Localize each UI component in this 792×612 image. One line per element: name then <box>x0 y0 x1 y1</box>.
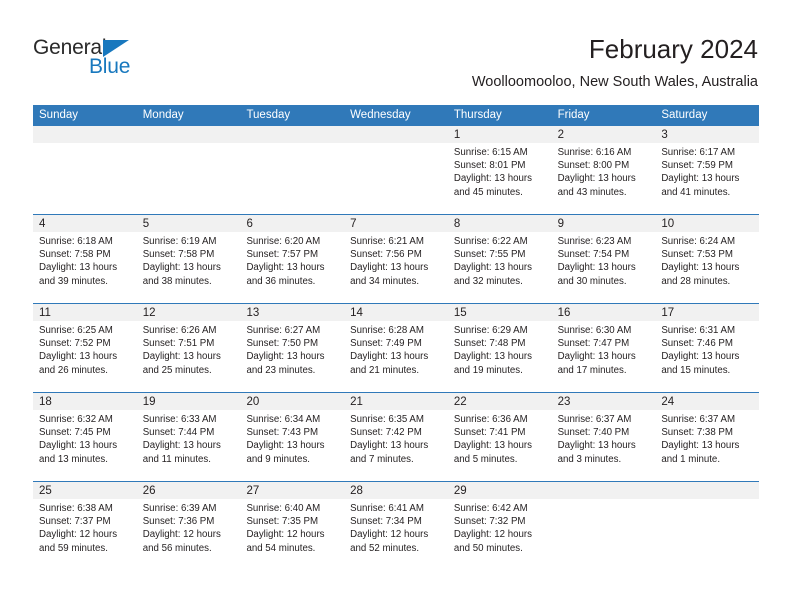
daylight-duration-line2: and 39 minutes. <box>39 275 131 288</box>
day-sun-info: Sunrise: 6:40 AMSunset: 7:35 PMDaylight:… <box>240 499 344 555</box>
daylight-duration-line1: Daylight: 13 hours <box>39 350 131 363</box>
day-sun-info: Sunrise: 6:27 AMSunset: 7:50 PMDaylight:… <box>240 321 344 377</box>
calendar-week-row: 1Sunrise: 6:15 AMSunset: 8:01 PMDaylight… <box>33 126 759 214</box>
day-number: 14 <box>344 304 448 321</box>
sunrise-time: Sunrise: 6:29 AM <box>454 324 546 337</box>
daylight-duration-line1: Daylight: 13 hours <box>350 350 442 363</box>
daylight-duration-line1: Daylight: 13 hours <box>39 261 131 274</box>
calendar-day-cell-empty <box>655 482 759 570</box>
daylight-duration-line2: and 19 minutes. <box>454 364 546 377</box>
daylight-duration-line2: and 1 minute. <box>661 453 753 466</box>
sunrise-time: Sunrise: 6:38 AM <box>39 502 131 515</box>
calendar-day-cell[interactable]: 9Sunrise: 6:23 AMSunset: 7:54 PMDaylight… <box>552 215 656 303</box>
weekday-header-row: Sunday Monday Tuesday Wednesday Thursday… <box>33 105 759 126</box>
daylight-duration-line2: and 30 minutes. <box>558 275 650 288</box>
weekday-header-saturday: Saturday <box>655 105 759 126</box>
calendar-day-cell-empty <box>33 126 137 214</box>
day-number: 27 <box>240 482 344 499</box>
day-sun-info: Sunrise: 6:28 AMSunset: 7:49 PMDaylight:… <box>344 321 448 377</box>
sunset-time: Sunset: 7:52 PM <box>39 337 131 350</box>
daylight-duration-line2: and 17 minutes. <box>558 364 650 377</box>
day-sun-info: Sunrise: 6:24 AMSunset: 7:53 PMDaylight:… <box>655 232 759 288</box>
daylight-duration-line1: Daylight: 12 hours <box>454 528 546 541</box>
daylight-duration-line1: Daylight: 12 hours <box>350 528 442 541</box>
daylight-duration-line2: and 59 minutes. <box>39 542 131 555</box>
day-sun-info: Sunrise: 6:34 AMSunset: 7:43 PMDaylight:… <box>240 410 344 466</box>
sunset-time: Sunset: 7:42 PM <box>350 426 442 439</box>
day-sun-info: Sunrise: 6:31 AMSunset: 7:46 PMDaylight:… <box>655 321 759 377</box>
day-sun-info: Sunrise: 6:20 AMSunset: 7:57 PMDaylight:… <box>240 232 344 288</box>
calendar-day-cell-empty <box>240 126 344 214</box>
daylight-duration-line1: Daylight: 12 hours <box>143 528 235 541</box>
sunrise-time: Sunrise: 6:36 AM <box>454 413 546 426</box>
sunrise-time: Sunrise: 6:15 AM <box>454 146 546 159</box>
sunrise-time: Sunrise: 6:31 AM <box>661 324 753 337</box>
day-sun-info: Sunrise: 6:30 AMSunset: 7:47 PMDaylight:… <box>552 321 656 377</box>
day-sun-info: Sunrise: 6:21 AMSunset: 7:56 PMDaylight:… <box>344 232 448 288</box>
sunrise-time: Sunrise: 6:20 AM <box>246 235 338 248</box>
calendar-day-cell[interactable]: 1Sunrise: 6:15 AMSunset: 8:01 PMDaylight… <box>448 126 552 214</box>
day-number <box>552 482 656 499</box>
sunrise-time: Sunrise: 6:34 AM <box>246 413 338 426</box>
daylight-duration-line2: and 36 minutes. <box>246 275 338 288</box>
daylight-duration-line1: Daylight: 13 hours <box>454 261 546 274</box>
day-sun-info: Sunrise: 6:33 AMSunset: 7:44 PMDaylight:… <box>137 410 241 466</box>
daylight-duration-line1: Daylight: 13 hours <box>558 261 650 274</box>
daylight-duration-line1: Daylight: 13 hours <box>454 350 546 363</box>
sunrise-time: Sunrise: 6:16 AM <box>558 146 650 159</box>
sunset-time: Sunset: 7:35 PM <box>246 515 338 528</box>
sunrise-time: Sunrise: 6:42 AM <box>454 502 546 515</box>
day-sun-info: Sunrise: 6:36 AMSunset: 7:41 PMDaylight:… <box>448 410 552 466</box>
calendar-day-cell[interactable]: 25Sunrise: 6:38 AMSunset: 7:37 PMDayligh… <box>33 482 137 570</box>
day-number: 28 <box>344 482 448 499</box>
day-sun-info: Sunrise: 6:39 AMSunset: 7:36 PMDaylight:… <box>137 499 241 555</box>
day-number <box>33 126 137 143</box>
day-number: 26 <box>137 482 241 499</box>
calendar-day-cell[interactable]: 21Sunrise: 6:35 AMSunset: 7:42 PMDayligh… <box>344 393 448 481</box>
calendar-day-cell-empty <box>137 126 241 214</box>
calendar-day-cell[interactable]: 5Sunrise: 6:19 AMSunset: 7:58 PMDaylight… <box>137 215 241 303</box>
calendar-week-row: 25Sunrise: 6:38 AMSunset: 7:37 PMDayligh… <box>33 481 759 570</box>
daylight-duration-line2: and 5 minutes. <box>454 453 546 466</box>
day-number: 25 <box>33 482 137 499</box>
page-title: February 2024 <box>589 34 758 65</box>
sunrise-time: Sunrise: 6:30 AM <box>558 324 650 337</box>
daylight-duration-line2: and 9 minutes. <box>246 453 338 466</box>
day-sun-info: Sunrise: 6:41 AMSunset: 7:34 PMDaylight:… <box>344 499 448 555</box>
day-number: 13 <box>240 304 344 321</box>
day-number <box>655 482 759 499</box>
sunset-time: Sunset: 7:40 PM <box>558 426 650 439</box>
daylight-duration-line1: Daylight: 13 hours <box>454 172 546 185</box>
day-number: 29 <box>448 482 552 499</box>
sunset-time: Sunset: 7:58 PM <box>39 248 131 261</box>
day-number: 6 <box>240 215 344 232</box>
day-sun-info: Sunrise: 6:15 AMSunset: 8:01 PMDaylight:… <box>448 143 552 199</box>
daylight-duration-line2: and 23 minutes. <box>246 364 338 377</box>
daylight-duration-line1: Daylight: 13 hours <box>661 261 753 274</box>
sunrise-time: Sunrise: 6:22 AM <box>454 235 546 248</box>
calendar-day-cell[interactable]: 28Sunrise: 6:41 AMSunset: 7:34 PMDayligh… <box>344 482 448 570</box>
calendar-day-cell[interactable]: 24Sunrise: 6:37 AMSunset: 7:38 PMDayligh… <box>655 393 759 481</box>
calendar-day-cell[interactable]: 22Sunrise: 6:36 AMSunset: 7:41 PMDayligh… <box>448 393 552 481</box>
day-number: 17 <box>655 304 759 321</box>
day-sun-info: Sunrise: 6:35 AMSunset: 7:42 PMDaylight:… <box>344 410 448 466</box>
day-sun-info: Sunrise: 6:37 AMSunset: 7:40 PMDaylight:… <box>552 410 656 466</box>
calendar-day-cell[interactable]: 13Sunrise: 6:27 AMSunset: 7:50 PMDayligh… <box>240 304 344 392</box>
calendar-day-cell[interactable]: 8Sunrise: 6:22 AMSunset: 7:55 PMDaylight… <box>448 215 552 303</box>
day-sun-info: Sunrise: 6:42 AMSunset: 7:32 PMDaylight:… <box>448 499 552 555</box>
day-number: 15 <box>448 304 552 321</box>
daylight-duration-line2: and 43 minutes. <box>558 186 650 199</box>
weekday-header-wednesday: Wednesday <box>344 105 448 126</box>
sunset-time: Sunset: 7:55 PM <box>454 248 546 261</box>
sunrise-time: Sunrise: 6:21 AM <box>350 235 442 248</box>
sunrise-time: Sunrise: 6:18 AM <box>39 235 131 248</box>
sunrise-time: Sunrise: 6:40 AM <box>246 502 338 515</box>
sunrise-time: Sunrise: 6:23 AM <box>558 235 650 248</box>
calendar-day-cell[interactable]: 26Sunrise: 6:39 AMSunset: 7:36 PMDayligh… <box>137 482 241 570</box>
calendar-day-cell[interactable]: 20Sunrise: 6:34 AMSunset: 7:43 PMDayligh… <box>240 393 344 481</box>
sunset-time: Sunset: 8:01 PM <box>454 159 546 172</box>
day-number <box>137 126 241 143</box>
calendar-week-row: 11Sunrise: 6:25 AMSunset: 7:52 PMDayligh… <box>33 303 759 392</box>
calendar-day-cell[interactable]: 14Sunrise: 6:28 AMSunset: 7:49 PMDayligh… <box>344 304 448 392</box>
sunrise-time: Sunrise: 6:35 AM <box>350 413 442 426</box>
daylight-duration-line2: and 34 minutes. <box>350 275 442 288</box>
calendar-grid: Sunday Monday Tuesday Wednesday Thursday… <box>33 105 759 570</box>
daylight-duration-line2: and 50 minutes. <box>454 542 546 555</box>
sunrise-time: Sunrise: 6:19 AM <box>143 235 235 248</box>
day-number: 10 <box>655 215 759 232</box>
sunrise-time: Sunrise: 6:41 AM <box>350 502 442 515</box>
day-number: 23 <box>552 393 656 410</box>
calendar-day-cell[interactable]: 23Sunrise: 6:37 AMSunset: 7:40 PMDayligh… <box>552 393 656 481</box>
sunrise-time: Sunrise: 6:37 AM <box>661 413 753 426</box>
day-sun-info: Sunrise: 6:26 AMSunset: 7:51 PMDaylight:… <box>137 321 241 377</box>
calendar-page: General Blue February 2024 Woolloomooloo… <box>0 0 792 612</box>
day-number: 5 <box>137 215 241 232</box>
day-sun-info: Sunrise: 6:25 AMSunset: 7:52 PMDaylight:… <box>33 321 137 377</box>
calendar-day-cell-empty <box>552 482 656 570</box>
daylight-duration-line2: and 32 minutes. <box>454 275 546 288</box>
sunrise-time: Sunrise: 6:32 AM <box>39 413 131 426</box>
sunrise-time: Sunrise: 6:17 AM <box>661 146 753 159</box>
daylight-duration-line2: and 13 minutes. <box>39 453 131 466</box>
sunset-time: Sunset: 7:58 PM <box>143 248 235 261</box>
day-number: 3 <box>655 126 759 143</box>
daylight-duration-line1: Daylight: 13 hours <box>143 350 235 363</box>
weekday-header-monday: Monday <box>137 105 241 126</box>
daylight-duration-line2: and 3 minutes. <box>558 453 650 466</box>
daylight-duration-line2: and 21 minutes. <box>350 364 442 377</box>
calendar-day-cell[interactable]: 19Sunrise: 6:33 AMSunset: 7:44 PMDayligh… <box>137 393 241 481</box>
day-number <box>240 126 344 143</box>
day-sun-info: Sunrise: 6:17 AMSunset: 7:59 PMDaylight:… <box>655 143 759 199</box>
sunset-time: Sunset: 7:48 PM <box>454 337 546 350</box>
weekday-header-tuesday: Tuesday <box>240 105 344 126</box>
daylight-duration-line1: Daylight: 13 hours <box>661 350 753 363</box>
calendar-day-cell[interactable]: 11Sunrise: 6:25 AMSunset: 7:52 PMDayligh… <box>33 304 137 392</box>
daylight-duration-line1: Daylight: 13 hours <box>350 439 442 452</box>
day-number: 19 <box>137 393 241 410</box>
daylight-duration-line1: Daylight: 13 hours <box>350 261 442 274</box>
sunset-time: Sunset: 7:43 PM <box>246 426 338 439</box>
calendar-day-cell[interactable]: 27Sunrise: 6:40 AMSunset: 7:35 PMDayligh… <box>240 482 344 570</box>
daylight-duration-line1: Daylight: 13 hours <box>246 350 338 363</box>
day-sun-info: Sunrise: 6:38 AMSunset: 7:37 PMDaylight:… <box>33 499 137 555</box>
daylight-duration-line2: and 25 minutes. <box>143 364 235 377</box>
daylight-duration-line2: and 26 minutes. <box>39 364 131 377</box>
logo-text-blue: Blue <box>89 55 130 79</box>
sunset-time: Sunset: 7:54 PM <box>558 248 650 261</box>
calendar-day-cell-empty <box>344 126 448 214</box>
calendar-day-cell[interactable]: 17Sunrise: 6:31 AMSunset: 7:46 PMDayligh… <box>655 304 759 392</box>
sunset-time: Sunset: 7:47 PM <box>558 337 650 350</box>
sunset-time: Sunset: 7:57 PM <box>246 248 338 261</box>
sunset-time: Sunset: 7:41 PM <box>454 426 546 439</box>
daylight-duration-line1: Daylight: 13 hours <box>246 261 338 274</box>
daylight-duration-line1: Daylight: 13 hours <box>143 261 235 274</box>
weekday-header-friday: Friday <box>552 105 656 126</box>
sunset-time: Sunset: 7:53 PM <box>661 248 753 261</box>
day-number: 21 <box>344 393 448 410</box>
sunset-time: Sunset: 7:49 PM <box>350 337 442 350</box>
sunset-time: Sunset: 7:44 PM <box>143 426 235 439</box>
daylight-duration-line1: Daylight: 13 hours <box>558 172 650 185</box>
sunset-time: Sunset: 7:56 PM <box>350 248 442 261</box>
daylight-duration-line2: and 54 minutes. <box>246 542 338 555</box>
daylight-duration-line2: and 28 minutes. <box>661 275 753 288</box>
day-sun-info: Sunrise: 6:16 AMSunset: 8:00 PMDaylight:… <box>552 143 656 199</box>
day-number: 24 <box>655 393 759 410</box>
daylight-duration-line1: Daylight: 13 hours <box>454 439 546 452</box>
calendar-day-cell[interactable]: 16Sunrise: 6:30 AMSunset: 7:47 PMDayligh… <box>552 304 656 392</box>
general-blue-logo[interactable]: General Blue <box>33 36 183 86</box>
day-sun-info: Sunrise: 6:37 AMSunset: 7:38 PMDaylight:… <box>655 410 759 466</box>
day-number: 18 <box>33 393 137 410</box>
calendar-day-cell[interactable]: 29Sunrise: 6:42 AMSunset: 7:32 PMDayligh… <box>448 482 552 570</box>
sunrise-time: Sunrise: 6:33 AM <box>143 413 235 426</box>
daylight-duration-line2: and 7 minutes. <box>350 453 442 466</box>
calendar-day-cell[interactable]: 6Sunrise: 6:20 AMSunset: 7:57 PMDaylight… <box>240 215 344 303</box>
sunrise-time: Sunrise: 6:25 AM <box>39 324 131 337</box>
daylight-duration-line2: and 11 minutes. <box>143 453 235 466</box>
sunset-time: Sunset: 7:34 PM <box>350 515 442 528</box>
daylight-duration-line1: Daylight: 13 hours <box>143 439 235 452</box>
sunrise-time: Sunrise: 6:26 AM <box>143 324 235 337</box>
daylight-duration-line1: Daylight: 13 hours <box>246 439 338 452</box>
day-number: 1 <box>448 126 552 143</box>
daylight-duration-line1: Daylight: 12 hours <box>246 528 338 541</box>
sunset-time: Sunset: 8:00 PM <box>558 159 650 172</box>
day-sun-info: Sunrise: 6:22 AMSunset: 7:55 PMDaylight:… <box>448 232 552 288</box>
daylight-duration-line1: Daylight: 13 hours <box>661 439 753 452</box>
sunset-time: Sunset: 7:37 PM <box>39 515 131 528</box>
calendar-day-cell[interactable]: 7Sunrise: 6:21 AMSunset: 7:56 PMDaylight… <box>344 215 448 303</box>
day-number: 8 <box>448 215 552 232</box>
sunrise-time: Sunrise: 6:39 AM <box>143 502 235 515</box>
day-number: 7 <box>344 215 448 232</box>
daylight-duration-line2: and 52 minutes. <box>350 542 442 555</box>
day-number: 4 <box>33 215 137 232</box>
calendar-day-cell[interactable]: 12Sunrise: 6:26 AMSunset: 7:51 PMDayligh… <box>137 304 241 392</box>
daylight-duration-line2: and 41 minutes. <box>661 186 753 199</box>
day-number: 20 <box>240 393 344 410</box>
daylight-duration-line2: and 56 minutes. <box>143 542 235 555</box>
day-number: 2 <box>552 126 656 143</box>
daylight-duration-line2: and 38 minutes. <box>143 275 235 288</box>
calendar-day-cell[interactable]: 2Sunrise: 6:16 AMSunset: 8:00 PMDaylight… <box>552 126 656 214</box>
sunset-time: Sunset: 7:59 PM <box>661 159 753 172</box>
day-sun-info: Sunrise: 6:23 AMSunset: 7:54 PMDaylight:… <box>552 232 656 288</box>
day-sun-info: Sunrise: 6:29 AMSunset: 7:48 PMDaylight:… <box>448 321 552 377</box>
daylight-duration-line2: and 45 minutes. <box>454 186 546 199</box>
day-number: 16 <box>552 304 656 321</box>
calendar-week-row: 18Sunrise: 6:32 AMSunset: 7:45 PMDayligh… <box>33 392 759 481</box>
calendar-day-cell[interactable]: 18Sunrise: 6:32 AMSunset: 7:45 PMDayligh… <box>33 393 137 481</box>
calendar-day-cell[interactable]: 15Sunrise: 6:29 AMSunset: 7:48 PMDayligh… <box>448 304 552 392</box>
day-number: 9 <box>552 215 656 232</box>
sunrise-time: Sunrise: 6:27 AM <box>246 324 338 337</box>
page-masthead: General Blue February 2024 Woolloomooloo… <box>0 0 792 100</box>
daylight-duration-line1: Daylight: 12 hours <box>39 528 131 541</box>
calendar-day-cell[interactable]: 10Sunrise: 6:24 AMSunset: 7:53 PMDayligh… <box>655 215 759 303</box>
weekday-header-thursday: Thursday <box>448 105 552 126</box>
sunset-time: Sunset: 7:46 PM <box>661 337 753 350</box>
day-number <box>344 126 448 143</box>
daylight-duration-line2: and 15 minutes. <box>661 364 753 377</box>
sunrise-time: Sunrise: 6:37 AM <box>558 413 650 426</box>
calendar-day-cell[interactable]: 4Sunrise: 6:18 AMSunset: 7:58 PMDaylight… <box>33 215 137 303</box>
sunrise-time: Sunrise: 6:24 AM <box>661 235 753 248</box>
daylight-duration-line1: Daylight: 13 hours <box>558 439 650 452</box>
daylight-duration-line1: Daylight: 13 hours <box>661 172 753 185</box>
daylight-duration-line1: Daylight: 13 hours <box>39 439 131 452</box>
day-number: 12 <box>137 304 241 321</box>
sunset-time: Sunset: 7:32 PM <box>454 515 546 528</box>
sunset-time: Sunset: 7:50 PM <box>246 337 338 350</box>
sunset-time: Sunset: 7:45 PM <box>39 426 131 439</box>
calendar-week-row: 4Sunrise: 6:18 AMSunset: 7:58 PMDaylight… <box>33 214 759 303</box>
calendar-day-cell[interactable]: 3Sunrise: 6:17 AMSunset: 7:59 PMDaylight… <box>655 126 759 214</box>
day-number: 22 <box>448 393 552 410</box>
sunset-time: Sunset: 7:36 PM <box>143 515 235 528</box>
day-sun-info: Sunrise: 6:32 AMSunset: 7:45 PMDaylight:… <box>33 410 137 466</box>
calendar-weeks: 1Sunrise: 6:15 AMSunset: 8:01 PMDaylight… <box>33 126 759 570</box>
page-subtitle-location: Woolloomooloo, New South Wales, Australi… <box>472 74 758 90</box>
sunset-time: Sunset: 7:51 PM <box>143 337 235 350</box>
day-sun-info: Sunrise: 6:18 AMSunset: 7:58 PMDaylight:… <box>33 232 137 288</box>
sunrise-time: Sunrise: 6:28 AM <box>350 324 442 337</box>
daylight-duration-line1: Daylight: 13 hours <box>558 350 650 363</box>
sunset-time: Sunset: 7:38 PM <box>661 426 753 439</box>
day-number: 11 <box>33 304 137 321</box>
weekday-header-sunday: Sunday <box>33 105 137 126</box>
day-sun-info: Sunrise: 6:19 AMSunset: 7:58 PMDaylight:… <box>137 232 241 288</box>
